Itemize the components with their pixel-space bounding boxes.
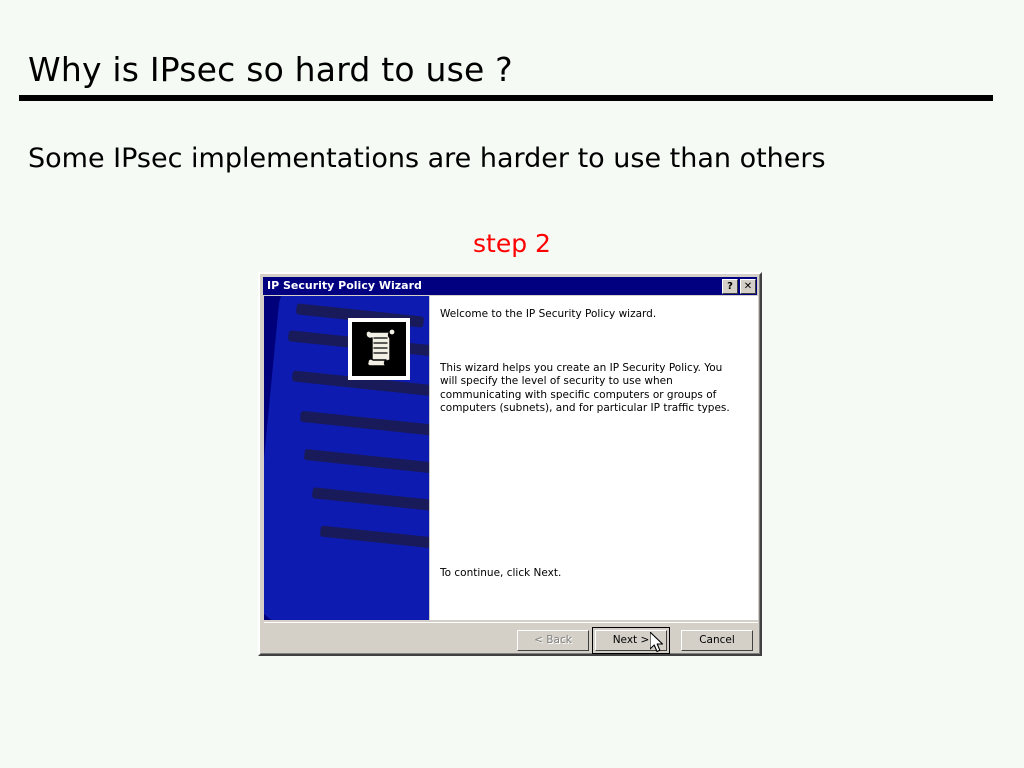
wizard-continue-text: To continue, click Next. <box>440 567 561 581</box>
dialog-body: Welcome to the IP Security Policy wizard… <box>264 296 758 620</box>
dialog-title: IP Security Policy Wizard <box>267 277 720 295</box>
page-title: Why is IPsec so hard to use ? <box>28 50 513 89</box>
wizard-description-text: This wizard helps you create an IP Secur… <box>440 362 732 416</box>
next-button[interactable]: Next > <box>595 630 667 651</box>
back-button[interactable]: < Back <box>517 630 589 651</box>
scroll-document-icon <box>348 318 410 380</box>
cancel-button[interactable]: Cancel <box>681 630 753 651</box>
wizard-banner <box>264 296 429 620</box>
dialog-title-bar[interactable]: IP Security Policy Wizard ? ✕ <box>263 277 757 295</box>
slide-subtitle: Some IPsec implementations are harder to… <box>28 143 826 174</box>
next-button-default-frame: Next > <box>592 627 670 654</box>
ip-security-policy-wizard-dialog: IP Security Policy Wizard ? ✕ <box>258 272 762 656</box>
dialog-button-bar: < Back Next > Cancel <box>264 622 758 653</box>
step-caption: step 2 <box>0 229 1024 258</box>
dialog-frame: IP Security Policy Wizard ? ✕ <box>260 274 760 654</box>
close-icon[interactable]: ✕ <box>740 279 756 294</box>
wizard-content-pane: Welcome to the IP Security Policy wizard… <box>429 296 758 620</box>
help-icon[interactable]: ? <box>722 279 738 294</box>
wizard-welcome-text: Welcome to the IP Security Policy wizard… <box>440 308 746 322</box>
title-divider <box>19 95 993 101</box>
